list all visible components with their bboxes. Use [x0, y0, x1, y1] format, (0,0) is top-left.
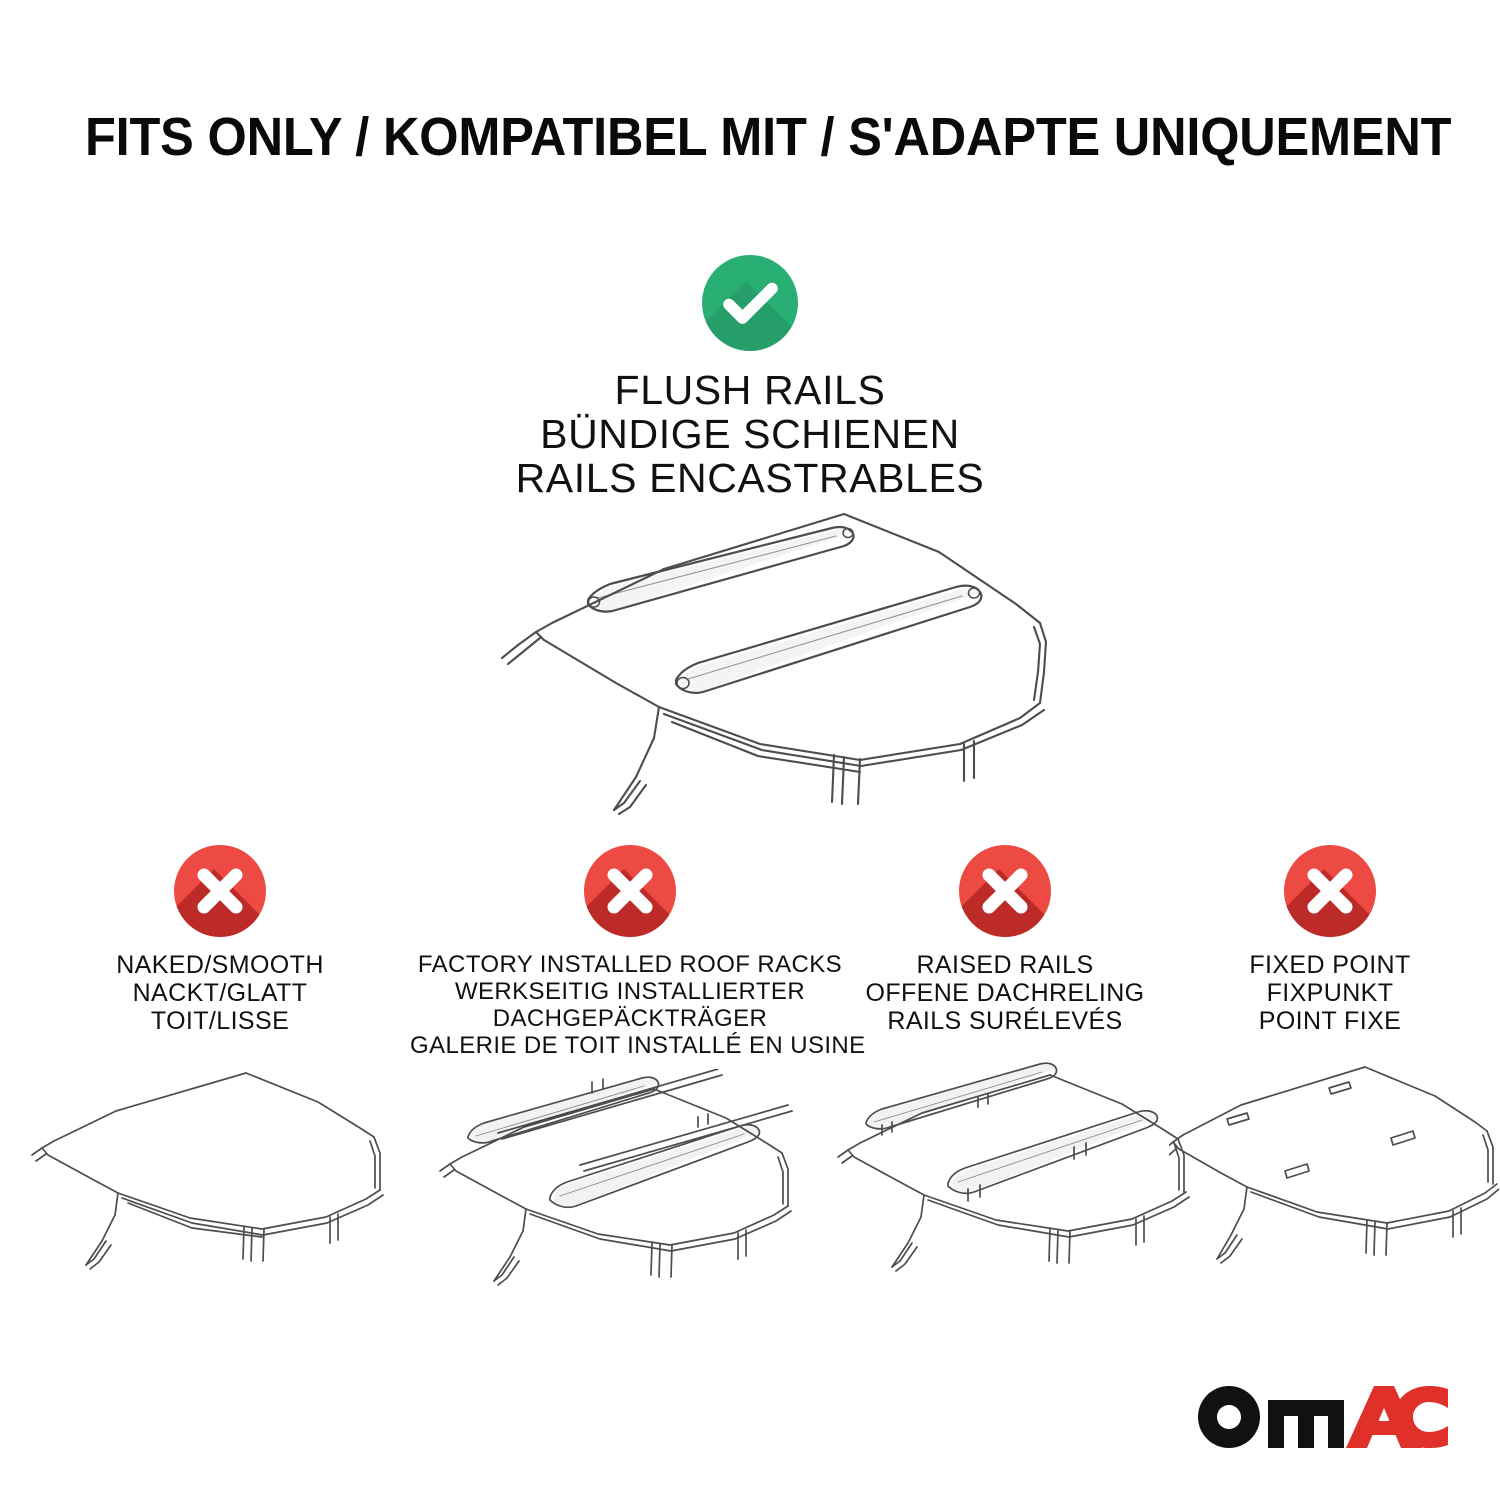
omac-logo	[1198, 1386, 1448, 1448]
compatible-section: FLUSH RAILS BÜNDIGE SCHIENEN RAILS ENCAS…	[0, 255, 1500, 500]
cross-mark-icon	[959, 845, 1051, 937]
incompatible-option-naked-smooth: NAKED/SMOOTH NACKT/GLATT TOIT/LISSE	[30, 845, 410, 1280]
cross-mark-icon	[174, 845, 266, 937]
badge-container	[1175, 845, 1485, 942]
caption-line-fr: GALERIE DE TOIT INSTALLÉ EN USINE	[410, 1032, 850, 1059]
compatible-line-en: FLUSH RAILS	[0, 368, 1500, 412]
caption-line-de-2: DACHGEPÄCKTRÄGER	[410, 1005, 850, 1032]
car-roof-with-factory-roof-racks-illustration	[410, 1069, 850, 1304]
car-roof-with-flush-rails-illustration	[440, 492, 1080, 822]
caption-line-en: RAISED RAILS	[840, 951, 1170, 979]
caption-line-de-1: WERKSEITIG INSTALLIERTER	[410, 978, 850, 1005]
incompatible-option-raised-rails: RAISED RAILS OFFENE DACHRELING RAILS SUR…	[840, 845, 1170, 1280]
compatible-line-de: BÜNDIGE SCHIENEN	[0, 412, 1500, 456]
option-caption: RAISED RAILS OFFENE DACHRELING RAILS SUR…	[840, 951, 1170, 1035]
caption-line-de: FIXPUNKT	[1175, 979, 1485, 1007]
option-caption: FIXED POINT FIXPUNKT POINT FIXE	[1175, 951, 1485, 1035]
badge-container	[30, 845, 410, 942]
incompatible-section: NAKED/SMOOTH NACKT/GLATT TOIT/LISSE	[0, 845, 1500, 1285]
caption-line-fr: RAILS SURÉLEVÉS	[840, 1007, 1170, 1035]
car-roof-naked-smooth-illustration	[30, 1045, 410, 1280]
cross-mark-icon	[1284, 845, 1376, 937]
caption-line-de: NACKT/GLATT	[30, 979, 410, 1007]
caption-line-fr: POINT FIXE	[1175, 1007, 1485, 1035]
caption-line-de: OFFENE DACHRELING	[840, 979, 1170, 1007]
caption-line-en: NAKED/SMOOTH	[30, 951, 410, 979]
caption-line-fr: TOIT/LISSE	[30, 1007, 410, 1035]
badge-container	[840, 845, 1170, 942]
incompatible-option-factory-roof-racks: FACTORY INSTALLED ROOF RACKS WERKSEITIG …	[410, 845, 850, 1304]
check-mark-icon	[702, 255, 798, 351]
badge-container	[410, 845, 850, 942]
compatible-caption: FLUSH RAILS BÜNDIGE SCHIENEN RAILS ENCAS…	[0, 368, 1500, 500]
caption-line-en: FACTORY INSTALLED ROOF RACKS	[410, 951, 850, 978]
incompatible-option-fixed-point: FIXED POINT FIXPUNKT POINT FIXE	[1175, 845, 1485, 1280]
car-roof-with-raised-rails-illustration	[840, 1045, 1170, 1280]
car-roof-with-fixed-points-illustration	[1175, 1045, 1485, 1280]
page-title: FITS ONLY / KOMPATIBEL MIT / S'ADAPTE UN…	[85, 108, 1338, 166]
cross-mark-icon	[584, 845, 676, 937]
caption-line-en: FIXED POINT	[1175, 951, 1485, 979]
option-caption: FACTORY INSTALLED ROOF RACKS WERKSEITIG …	[410, 951, 850, 1059]
option-caption: NAKED/SMOOTH NACKT/GLATT TOIT/LISSE	[30, 951, 410, 1035]
